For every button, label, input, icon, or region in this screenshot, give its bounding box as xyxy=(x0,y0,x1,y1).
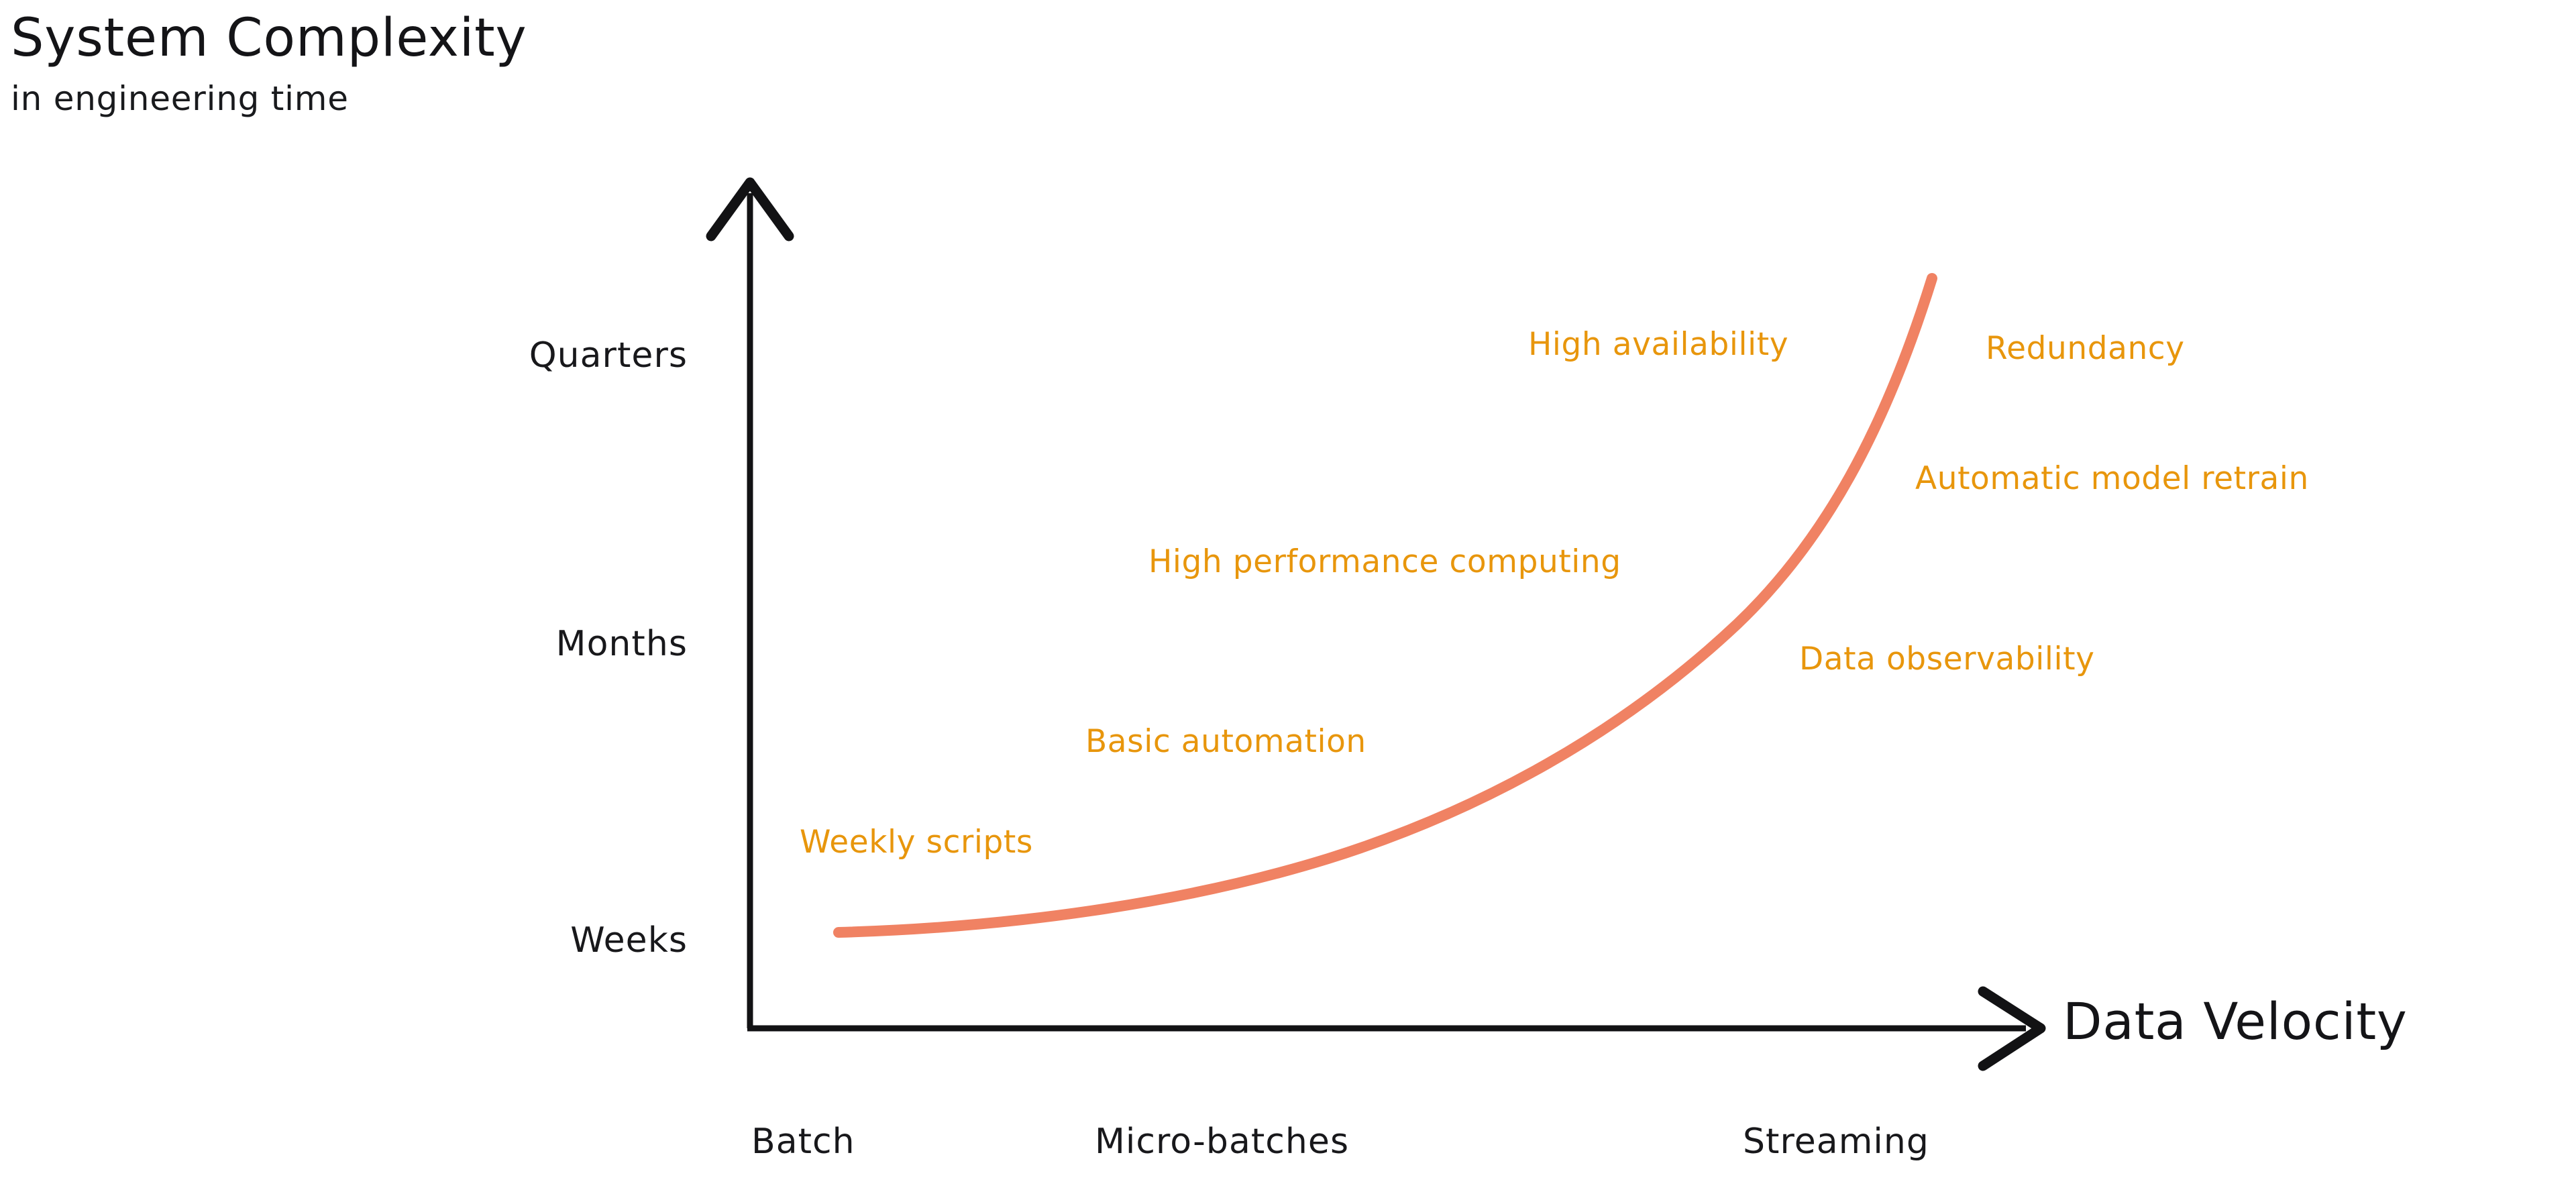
annotation-weekly-scripts: Weekly scripts xyxy=(800,824,1033,861)
x-tick-micro-batches: Micro-batches xyxy=(1095,1122,1349,1162)
annotation-basic-automation: Basic automation xyxy=(1085,723,1366,760)
y-tick-months: Months xyxy=(349,624,688,664)
y-tick-weeks: Weeks xyxy=(349,920,688,961)
annotation-high-performance-computing: High performance computing xyxy=(1148,543,1621,580)
annotation-high-availability: High availability xyxy=(1528,326,1788,363)
y-tick-quarters: Quarters xyxy=(349,335,688,376)
x-tick-streaming: Streaming xyxy=(1743,1122,1929,1162)
annotation-data-observability: Data observability xyxy=(1799,641,2095,677)
chart-canvas: System Complexity in engineering time Qu… xyxy=(0,0,2576,1196)
annotation-redundancy: Redundancy xyxy=(1986,330,2185,367)
annotation-automatic-model-retrain: Automatic model retrain xyxy=(1915,460,2309,497)
x-axis-title: Data Velocity xyxy=(2063,991,2408,1051)
x-axis xyxy=(747,991,2041,1066)
x-tick-batch: Batch xyxy=(751,1122,855,1162)
y-axis xyxy=(711,182,789,1028)
